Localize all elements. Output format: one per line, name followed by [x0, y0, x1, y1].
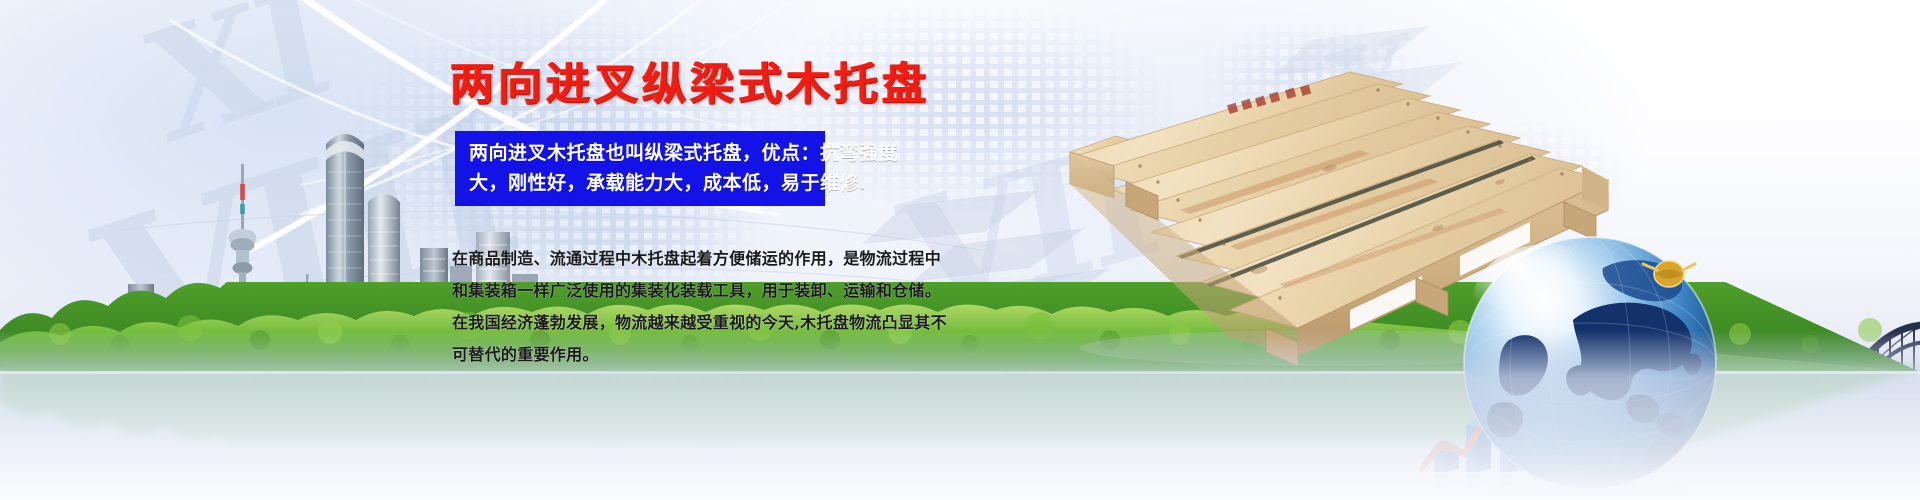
bar-series: [1434, 366, 1593, 472]
wooden-pallet-photo: [1030, 60, 1610, 370]
satellite-accent-icon: [1643, 261, 1695, 287]
growth-bar-chart: [1420, 358, 1620, 488]
tree-reflection: [0, 368, 1920, 442]
halftone-dot-pattern: [1430, 120, 1630, 230]
bar-item: [1466, 418, 1491, 472]
watermark-roman-numeral: X: [1321, 19, 1426, 162]
description-line-1: 在商品制造、流通过程中木托盘起着方便储运的作用，是物流过程中: [452, 243, 1072, 275]
page-title: 两向进叉纵梁式木托盘: [450, 48, 930, 112]
highlight-callout-box: 两向进叉木托盘也叫纵梁式托盘，优点：抗弯强度 大，刚性好，承载能力大，成本低，易…: [455, 131, 825, 206]
description-paragraph: 在商品制造、流通过程中木托盘起着方便储运的作用，是物流过程中 和集装箱一样广泛使…: [452, 243, 1072, 371]
bar-item: [1434, 444, 1446, 472]
rising-arrow-icon: [1420, 358, 1562, 476]
bar-item: [1568, 366, 1593, 472]
highlight-line-2: 大，刚性好，承载能力大，成本低，易于维修.: [469, 168, 815, 198]
promotional-banner: XI VIII VII IV X: [0, 0, 1920, 500]
watermark-roman-numeral: XI: [139, 0, 336, 166]
bar-item: [1534, 384, 1559, 472]
bar-item: [1500, 400, 1525, 472]
halftone-dot-pattern: [1190, 20, 1430, 140]
description-line-4: 可替代的重要作用。: [452, 339, 1072, 371]
description-line-2: 和集装箱一样广泛使用的集装化装载工具，用于装卸、运输和仓储。: [452, 275, 1072, 307]
water-surface: [0, 372, 1920, 500]
water-horizon-line: [0, 371, 1920, 374]
blue-globe-illustration: [1455, 228, 1725, 498]
description-line-3: 在我国经济蓬勃发展，物流越来越受重视的今天,木托盘物流凸显其不: [452, 307, 1072, 339]
highlight-line-1: 两向进叉木托盘也叫纵梁式托盘，优点：抗弯强度: [469, 138, 815, 168]
bar-item: [1434, 440, 1459, 472]
